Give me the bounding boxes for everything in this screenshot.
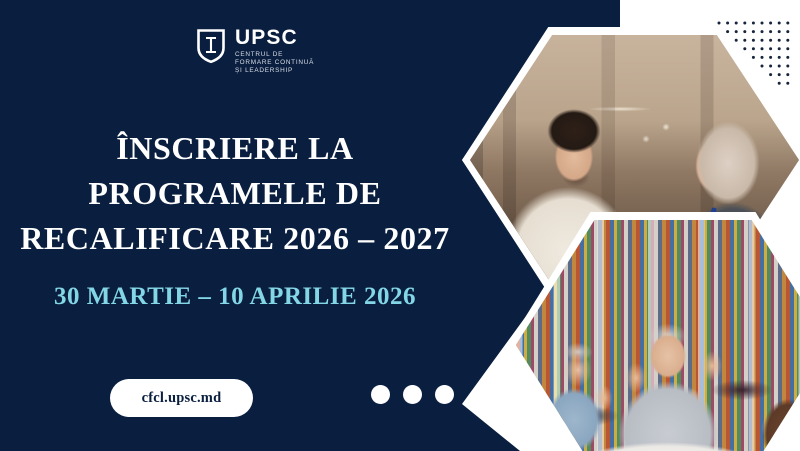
dot-icon <box>371 385 390 404</box>
event-dates: 30 MARTIE – 10 APRILIE 2026 <box>0 283 470 311</box>
logo-subtitle: CENTRUL DE FORMARE CONTINUĂ ȘI LEADERSHI… <box>235 51 314 76</box>
headline: ÎNSCRIERE LA PROGRAMELE DE RECALIFICARE … <box>0 126 470 261</box>
dot-icon <box>435 385 454 404</box>
logo-subtitle-line-1: CENTRUL DE <box>235 51 314 59</box>
three-dots-decoration <box>371 385 454 404</box>
headline-line-1: ÎNSCRIERE LA <box>0 126 470 171</box>
logo-subtitle-line-2: FORMARE CONTINUĂ <box>235 59 314 67</box>
promo-banner: UPSC CENTRUL DE FORMARE CONTINUĂ ȘI LEAD… <box>0 0 800 451</box>
headline-line-2: PROGRAMELE DE <box>0 171 470 216</box>
dot-grid-triangle-icon <box>716 20 792 90</box>
logo-subtitle-line-3: ȘI LEADERSHIP <box>235 67 314 75</box>
shield-monogram-icon <box>196 27 226 64</box>
headline-line-3: RECALIFICARE 2026 – 2027 <box>0 216 470 261</box>
website-url-pill[interactable]: cfcl.upsc.md <box>110 379 253 417</box>
upsc-logo: UPSC CENTRUL DE FORMARE CONTINUĂ ȘI LEAD… <box>196 27 314 76</box>
logo-title: UPSC <box>235 28 314 48</box>
dot-icon <box>403 385 422 404</box>
logo-text-block: UPSC CENTRUL DE FORMARE CONTINUĂ ȘI LEAD… <box>235 27 314 76</box>
